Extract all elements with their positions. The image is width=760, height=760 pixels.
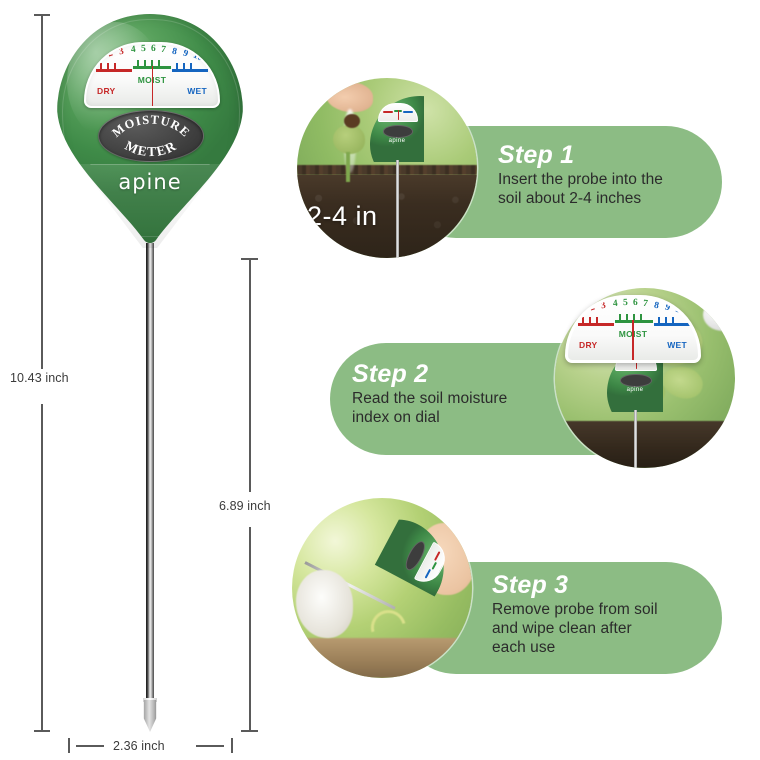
dial-number: 5 [141,44,146,54]
step-2-dial-callout: 1 2 3 4 5 6 7 8 9 10 MOIST DRY WET [565,295,701,363]
dial-number: 4 [130,45,136,56]
callout-number: 6 [633,298,638,308]
dial-label-dry: DRY [97,86,116,96]
dial-band-dry [96,69,132,72]
step-2-body: Read the soil moisture index on dial [352,390,584,428]
dimension-line-head-width-left [76,745,104,747]
dimension-label-probe-length: 6.89 inch [219,499,271,513]
dimension-cap-width-left [68,738,70,753]
dimension-cap-total-top [34,14,50,16]
dimension-cap-width-right [231,738,233,753]
probe-shaft [146,243,154,705]
dial-number: 8 [171,47,178,58]
dimension-line-total-length [41,14,43,369]
callout-label-dry: DRY [579,340,598,350]
dimension-line-head-width-right [196,745,224,747]
callout-label-wet: WET [667,340,687,350]
dimension-label-head-width: 2.36 inch [113,739,165,753]
step-3-title: Step 3 [492,572,730,598]
dial-number: 6 [151,44,156,54]
dial-number: 10 [191,50,204,63]
step-1-mini-probe [396,160,399,258]
dimension-label-total-length: 10.43 inch [10,371,69,385]
step-2-mini-probe [634,410,637,468]
callout-scale: 1 2 3 4 5 6 7 8 9 10 [568,304,700,330]
callout-number: 3 [600,301,607,312]
step-1-body: Insert the probe into the soil about 2-4… [498,171,730,209]
dimension-cap-total-bottom [34,730,50,732]
seedling-icon [333,125,365,154]
dimension-cap-probe-top [241,258,258,260]
moisture-meter-badge: MOISTURE METER [98,110,204,162]
step-3-body: Remove probe from soil and wipe clean af… [492,601,730,658]
callout-number: 7 [642,299,648,310]
svg-text:METER: METER [123,138,180,159]
step-2-title: Step 2 [352,361,584,387]
dial-number: 7 [160,45,166,56]
dial-band-wet [172,69,208,72]
callout-number: 1 [577,305,586,316]
dial-number: 9 [182,48,190,59]
step-1-mini-meter: apine [370,96,424,162]
callout-number: 4 [612,299,618,310]
infographic-canvas: 10.43 inch 6.89 inch 2.36 inch [0,0,760,760]
dimension-line-probe-length-lower [249,527,251,732]
mini-brand-logo: apine [607,387,663,393]
step-1-photo-overlay-text: 2-4 in [307,201,378,232]
svg-text:MOISTURE: MOISTURE [109,112,193,140]
step-1-photo: apine 2-4 in [297,78,477,258]
badge-text-moisture: MOISTURE [109,112,193,140]
callout-needle [632,320,634,360]
dial-number: 1 [95,51,104,62]
callout-number: 9 [664,302,672,313]
dimension-cap-probe-bottom [241,730,258,732]
callout-number: 8 [653,301,660,312]
step-1-title: Step 1 [498,142,730,168]
meter-dial-face: 1 2 3 4 5 6 7 8 9 10 MOIST DRY WET [84,42,220,108]
brand-logo: apine [57,170,243,194]
dimension-line-probe-length [249,260,251,492]
probe-tip-icon [143,700,157,732]
dimension-line-total-length-lower [41,404,43,732]
moisture-meter-product: 1 2 3 4 5 6 7 8 9 10 MOIST DRY WET M [57,14,243,246]
dial-number: 2 [107,48,115,59]
callout-number: 10 [673,304,686,317]
callout-number: 2 [589,302,597,313]
callout-number: 5 [623,298,628,308]
badge-text-meter: METER [123,138,180,159]
step-3-photo [292,498,472,678]
dial-needle [152,66,154,106]
dial-label-wet: WET [187,86,207,96]
dial-number: 3 [118,47,125,58]
mini-brand-logo: apine [370,138,424,144]
